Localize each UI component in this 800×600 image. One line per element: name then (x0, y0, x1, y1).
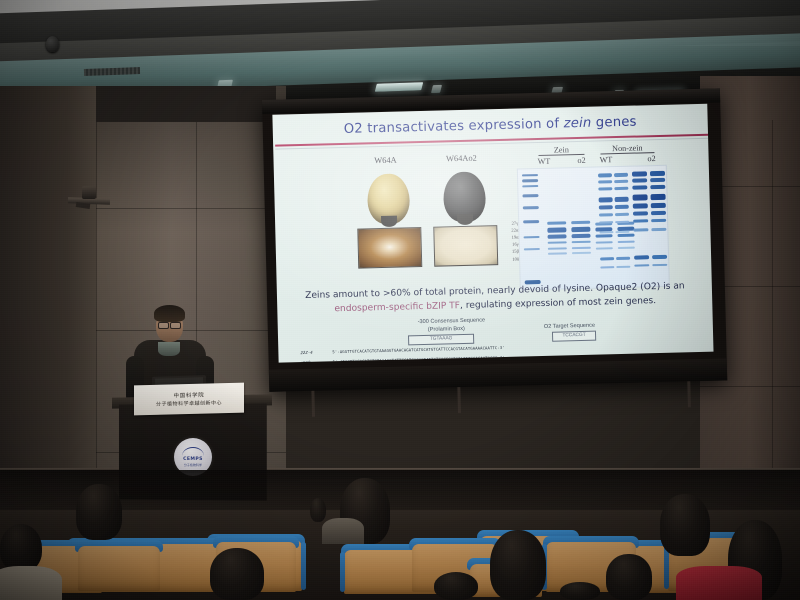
gel-band (548, 241, 567, 243)
gel-band (571, 227, 590, 232)
gel-band (547, 221, 566, 224)
lecture-hall-photo: O2 transactivates expression of zein gen… (0, 0, 800, 600)
audience-person-head (606, 554, 652, 600)
logo-subtitle: 分子植物科学 (184, 463, 202, 467)
audience-person-head (310, 498, 326, 522)
gel-lane-nonzein-wt-a (598, 171, 615, 285)
gel-band (572, 252, 591, 254)
wall-grout-line (700, 386, 800, 387)
gel-lane-ladder (522, 172, 541, 286)
slide-body-text: Zeins amount to >60% of total protein, n… (295, 280, 696, 317)
kernel-section-row (351, 225, 504, 269)
gel-band (523, 206, 539, 209)
o2-target-motif: TCCACGT (552, 331, 596, 342)
presentation-slide: O2 transactivates expression of zein gen… (272, 104, 713, 363)
screen-support-leg (311, 391, 315, 417)
gel-lane-zein-wt (546, 171, 568, 285)
audience-person-head (210, 548, 264, 600)
gel-band (522, 179, 538, 182)
prolamin-box-motif: TGTAAAG (408, 334, 474, 346)
gel-lane-labels-zein: WT o2 (535, 156, 589, 166)
gel-band (572, 247, 591, 249)
audience-person-head (490, 530, 546, 600)
slide-surface: O2 transactivates expression of zein gen… (272, 104, 713, 363)
o2-target-sequence-label: O2 Target Sequence (544, 323, 595, 330)
wall-grout-line (772, 120, 773, 506)
screen-support-leg (687, 381, 691, 407)
slide-title-tail: genes (591, 115, 637, 131)
gel-lane-nonzein-wt-b (614, 171, 631, 285)
gel-band (524, 248, 540, 250)
kernel-section-opaque (433, 225, 498, 267)
speaker-hair (154, 305, 185, 322)
gel-band (523, 220, 539, 223)
seat (78, 540, 160, 598)
gel-lane-label: o2 (577, 156, 585, 165)
gel-marker: 10δ (504, 255, 519, 262)
wall-grout-line (96, 122, 97, 506)
sequence-row-1: 5'-AGGTTGTCACATGTGTAAAGGTGAACAGATCATGCAT… (332, 345, 504, 354)
projection-screen[interactable]: O2 transactivates expression of zein gen… (262, 88, 727, 391)
kernel-label-row: W64A W64Ao2 (349, 153, 501, 166)
slide-title-italic: zein (563, 116, 591, 132)
gel-band (524, 236, 540, 238)
podium-plaque-line1: 中国科学院 (174, 391, 205, 400)
security-camera-icon (46, 36, 59, 52)
gel-marker-labels: 27γ 22α 19α 16γ 15β 10δ (503, 220, 519, 263)
audience-person-head (76, 484, 122, 540)
wall-upper-dark (96, 86, 276, 122)
gel-lane-label: WT (538, 157, 551, 166)
kernel-section-vitreous (357, 227, 422, 269)
gel-marker: 15β (504, 248, 519, 255)
sds-page-gel-figure: Zein WT o2 Non-zein WT (516, 143, 670, 291)
wall-speaker-icon (82, 186, 96, 199)
gel-band (572, 241, 591, 243)
kernel-label-w64ao2: W64Ao2 (446, 154, 477, 164)
audience-person-head (434, 572, 478, 600)
podium-plaque: 中国科学院 分子植物科学卓越创新中心 (134, 383, 244, 416)
ceiling-light (375, 82, 423, 92)
audience-person-head (660, 494, 710, 556)
gel-band (571, 234, 590, 238)
gel-lane-labels-nonzein: WT o2 (597, 154, 659, 165)
gel-lane-nonzein-o2-b (650, 170, 668, 284)
wall-left-shadowed (0, 86, 96, 506)
screen-support-leg (457, 387, 461, 413)
gel-band (522, 174, 538, 176)
body-text-highlight: endosperm-specific bZIP TF (334, 301, 460, 314)
gel-group-nonzein: Non-zein WT o2 (596, 143, 658, 165)
gel-group-zein: Zein WT o2 (534, 145, 588, 166)
gel-nonzein-region (597, 165, 668, 289)
gel-band (548, 252, 567, 254)
gel-lane-label: WT (600, 155, 613, 164)
gel-band (571, 221, 590, 224)
sequence-row-name-1: 22Z-4 (300, 350, 312, 355)
kernel-tip (457, 214, 473, 225)
kernel-label-w64a: W64A (374, 156, 397, 166)
gel-band (522, 185, 538, 187)
audience-person-head (0, 524, 42, 572)
logo-name: CEMPS (183, 457, 203, 462)
gel-lane-label: o2 (647, 154, 655, 163)
podium-plaque-line2: 分子植物科学卓越创新中心 (156, 399, 222, 408)
audience-person-shoulders (322, 518, 364, 544)
gel-band (547, 227, 566, 232)
gel-lane-zein-o2 (570, 171, 592, 285)
kernel-tip (381, 216, 397, 227)
glasses-icon (158, 322, 181, 327)
gel-band (548, 247, 567, 249)
prolamin-box-label: (Prolamin Box) (428, 326, 465, 333)
consensus-sequence-label: -300 Consensus Sequence (418, 317, 486, 325)
audience-person-shoulders (0, 566, 62, 600)
kernel-comparison-figure: W64A W64Ao2 (349, 153, 504, 269)
audience-person-head (560, 582, 600, 600)
logo-arc-icon (182, 447, 204, 456)
kernel-image-row (350, 165, 503, 225)
audience-person-red-coat (676, 566, 762, 600)
gel-lane-nonzein-o2-a (632, 170, 650, 284)
wall-grout-line (96, 208, 286, 209)
gel-band (522, 194, 538, 197)
slide-title-main: O2 transactivates expression of (344, 116, 564, 137)
speaker-collar (158, 342, 180, 356)
gel-band (548, 234, 567, 238)
body-text-line2: , regulating expression of most zein gen… (460, 296, 656, 311)
